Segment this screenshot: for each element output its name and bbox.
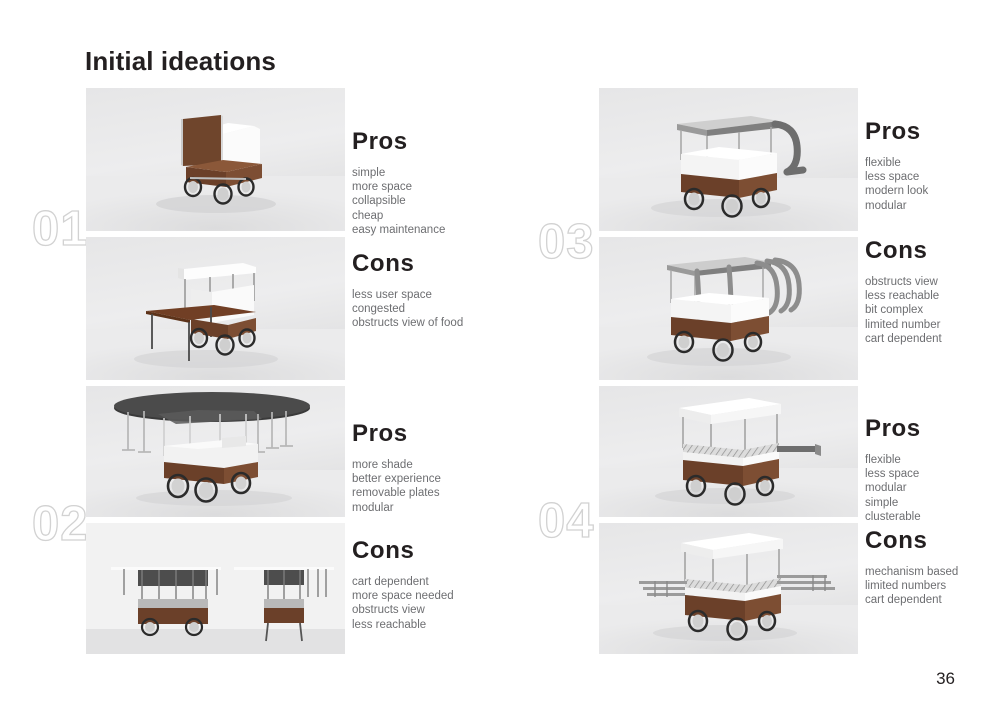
list-item: more space needed	[352, 589, 454, 603]
list-item: congested	[352, 302, 463, 316]
pros-heading-04: Pros	[865, 415, 921, 443]
list-item: better experience	[352, 472, 441, 486]
list-item: less user space	[352, 288, 463, 302]
list-item: less space	[865, 170, 928, 184]
list-item: flexible	[865, 453, 921, 467]
cons-heading-03: Cons	[865, 237, 942, 265]
list-item: more space	[352, 180, 445, 194]
list-item: simple	[352, 166, 445, 180]
list-item: removable plates	[352, 486, 441, 500]
list-item: less space	[865, 467, 921, 481]
pros-list-01: simple more space collapsible cheap easy…	[352, 166, 445, 237]
pros-block-04: Pros flexible less space modular simple …	[865, 415, 921, 524]
cons-block-02: Cons cart dependent more space needed ob…	[352, 537, 454, 632]
pros-list-04: flexible less space modular simple clust…	[865, 453, 921, 524]
list-item: obstructs view of food	[352, 316, 463, 330]
index-number-01: 01	[32, 205, 89, 254]
list-item: obstructs view	[352, 603, 454, 617]
list-item: modular	[352, 501, 441, 515]
page-title: Initial ideations	[85, 46, 276, 77]
cons-list-03: obstructs view less reachable bit comple…	[865, 275, 942, 346]
pros-list-03: flexible less space modern look modular	[865, 156, 928, 213]
list-item: more shade	[352, 458, 441, 472]
cons-heading-02: Cons	[352, 537, 454, 565]
pros-list-02: more shade better experience removable p…	[352, 458, 441, 515]
list-item: cheap	[352, 209, 445, 223]
render-image-04-pros	[599, 386, 858, 517]
list-item: modular	[865, 199, 928, 213]
cons-block-01: Cons less user space congested obstructs…	[352, 250, 463, 331]
list-item: simple	[865, 496, 921, 510]
render-image-02-cons	[86, 523, 345, 654]
list-item: cart dependent	[865, 332, 942, 346]
cons-list-01: less user space congested obstructs view…	[352, 288, 463, 331]
index-number-03: 03	[538, 218, 595, 267]
list-item: less reachable	[352, 618, 454, 632]
list-item: mechanism based	[865, 565, 958, 579]
cons-heading-01: Cons	[352, 250, 463, 278]
list-item: clusterable	[865, 510, 921, 524]
cons-list-02: cart dependent more space needed obstruc…	[352, 575, 454, 632]
render-image-01-pros	[86, 88, 345, 231]
list-item: modern look	[865, 184, 928, 198]
list-item: modular	[865, 481, 921, 495]
cons-list-04: mechanism based limited numbers cart dep…	[865, 565, 958, 608]
render-image-03-pros	[599, 88, 858, 231]
list-item: obstructs view	[865, 275, 942, 289]
list-item: bit complex	[865, 303, 942, 317]
pros-heading-02: Pros	[352, 420, 441, 448]
cons-block-04: Cons mechanism based limited numbers car…	[865, 527, 958, 608]
list-item: flexible	[865, 156, 928, 170]
page-number: 36	[936, 669, 955, 689]
render-image-04-cons	[599, 523, 858, 654]
index-number-04: 04	[538, 497, 595, 546]
slide-canvas: Initial ideations 01 02 03 04	[0, 0, 1000, 707]
render-image-03-cons	[599, 237, 858, 380]
render-image-02-pros	[86, 386, 345, 517]
pros-block-02: Pros more shade better experience remova…	[352, 420, 441, 515]
pros-heading-03: Pros	[865, 118, 928, 146]
list-item: cart dependent	[352, 575, 454, 589]
list-item: limited numbers	[865, 579, 958, 593]
pros-block-03: Pros flexible less space modern look mod…	[865, 118, 928, 213]
list-item: cart dependent	[865, 593, 958, 607]
pros-heading-01: Pros	[352, 128, 445, 156]
list-item: collapsible	[352, 194, 445, 208]
list-item: less reachable	[865, 289, 942, 303]
list-item: limited number	[865, 318, 942, 332]
cons-heading-04: Cons	[865, 527, 958, 555]
cons-block-03: Cons obstructs view less reachable bit c…	[865, 237, 942, 346]
index-number-02: 02	[32, 500, 89, 549]
pros-block-01: Pros simple more space collapsible cheap…	[352, 128, 445, 237]
list-item: easy maintenance	[352, 223, 445, 237]
render-image-01-cons	[86, 237, 345, 380]
